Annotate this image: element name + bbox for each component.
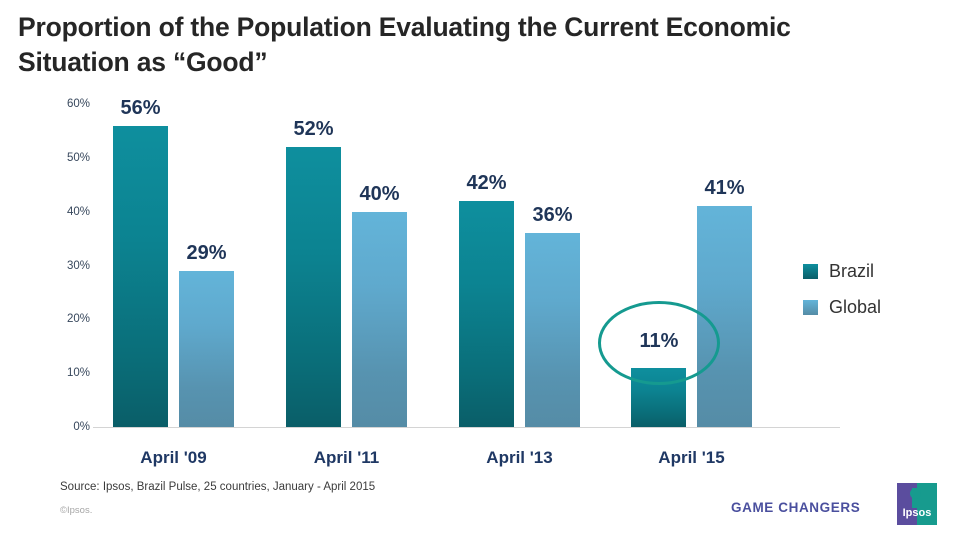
legend-label-brazil: Brazil bbox=[829, 261, 874, 282]
bar-global-1[interactable] bbox=[352, 212, 407, 427]
y-axis: 0%10%20%30%40%50%60% bbox=[38, 0, 90, 540]
tagline: GAME CHANGERS bbox=[731, 500, 860, 515]
y-axis-tick-label: 30% bbox=[48, 260, 90, 272]
logo-wordmark: Ipsos bbox=[897, 507, 937, 519]
logo-mark-dot bbox=[910, 488, 921, 499]
legend-swatch-brazil bbox=[803, 264, 818, 279]
bar-value-label: 36% bbox=[532, 204, 572, 227]
copyright-note: ©Ipsos. bbox=[60, 505, 92, 516]
bar-global-0[interactable] bbox=[179, 271, 234, 427]
bar-brazil-0[interactable] bbox=[113, 126, 168, 427]
x-axis-category-label: April '13 bbox=[486, 448, 552, 468]
legend-item-brazil[interactable]: Brazil bbox=[803, 253, 953, 289]
legend-label-global: Global bbox=[829, 297, 881, 318]
bar-brazil-1[interactable] bbox=[286, 147, 341, 427]
bar-global-2[interactable] bbox=[525, 233, 580, 427]
y-axis-tick-label: 60% bbox=[48, 98, 90, 110]
y-axis-tick-label: 10% bbox=[48, 367, 90, 379]
y-axis-tick-label: 50% bbox=[48, 152, 90, 164]
source-note: Source: Ipsos, Brazil Pulse, 25 countrie… bbox=[60, 481, 375, 493]
x-axis-baseline bbox=[93, 427, 840, 428]
y-axis-tick-label: 40% bbox=[48, 206, 90, 218]
y-axis-tick-label: 0% bbox=[48, 421, 90, 433]
bar-value-label: 29% bbox=[186, 242, 226, 265]
bar-value-label: 42% bbox=[466, 172, 506, 195]
x-axis-category-label: April '15 bbox=[658, 448, 724, 468]
chart-legend: Brazil Global bbox=[803, 253, 953, 325]
bar-value-label: 41% bbox=[704, 177, 744, 200]
highlight-label: 11% bbox=[598, 330, 720, 353]
bar-value-label: 40% bbox=[359, 183, 399, 206]
legend-item-global[interactable]: Global bbox=[803, 289, 953, 325]
x-axis-category-label: April '11 bbox=[314, 448, 379, 468]
slide-canvas: Proportion of the Population Evaluating … bbox=[0, 0, 960, 540]
bar-value-label: 56% bbox=[120, 97, 160, 120]
legend-swatch-global bbox=[803, 300, 818, 315]
x-axis-category-label: April '09 bbox=[140, 448, 206, 468]
y-axis-tick-label: 20% bbox=[48, 313, 90, 325]
ipsos-logo: Ipsos bbox=[897, 483, 937, 525]
bar-brazil-2[interactable] bbox=[459, 201, 514, 427]
bar-value-label: 52% bbox=[293, 118, 333, 141]
